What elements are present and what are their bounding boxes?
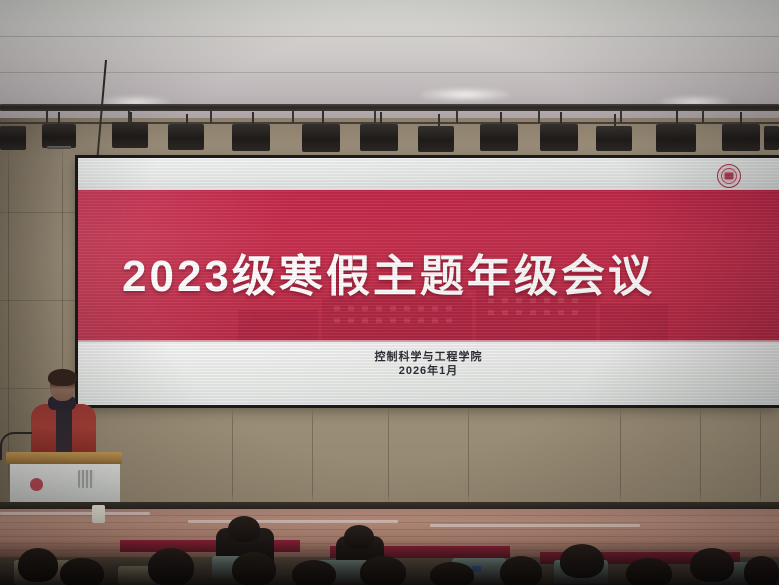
university-seal-icon [717, 164, 741, 188]
stage-light-icon [302, 124, 340, 152]
auditorium-photo: 2023级寒假主题年级会议 控制科学与工程学院 2026年1月 [0, 0, 779, 585]
slide-subtitle-date: 2026年1月 [78, 364, 779, 378]
slide-subtitle: 控制科学与工程学院 2026年1月 [78, 350, 779, 378]
slide-subtitle-org: 控制科学与工程学院 [78, 350, 779, 364]
stage-light-icon [722, 124, 760, 151]
led-presentation-screen: 2023级寒假主题年级会议 控制科学与工程学院 2026年1月 [78, 158, 779, 405]
stage-light-icon [168, 124, 204, 150]
speaker-hair [48, 369, 77, 386]
stage-light-icon [42, 124, 76, 148]
slide-title: 2023级寒假主题年级会议 [122, 240, 655, 304]
stage-light-icon [480, 124, 518, 151]
stage-light-icon [540, 124, 578, 151]
audience-shadow [0, 540, 779, 585]
stage-light-icon [360, 124, 398, 151]
lectern-desktop [6, 452, 122, 464]
stage-light-icon [232, 124, 270, 151]
stage-light-icon [0, 126, 26, 150]
slide-top-band [78, 158, 779, 190]
slide-red-band: 2023级寒假主题年级会议 [78, 190, 779, 342]
attendee-head [228, 516, 260, 542]
stage-light-icon [112, 122, 148, 148]
lectern-emblem-icon [30, 478, 43, 491]
stage-edge [0, 502, 779, 509]
stage-light-icon [418, 126, 454, 152]
stage-light-icon [764, 126, 779, 150]
stage-light-icon [656, 124, 696, 152]
cup [92, 505, 105, 523]
lectern-speaker-grille [78, 470, 94, 488]
stage-light-icon [596, 126, 632, 151]
